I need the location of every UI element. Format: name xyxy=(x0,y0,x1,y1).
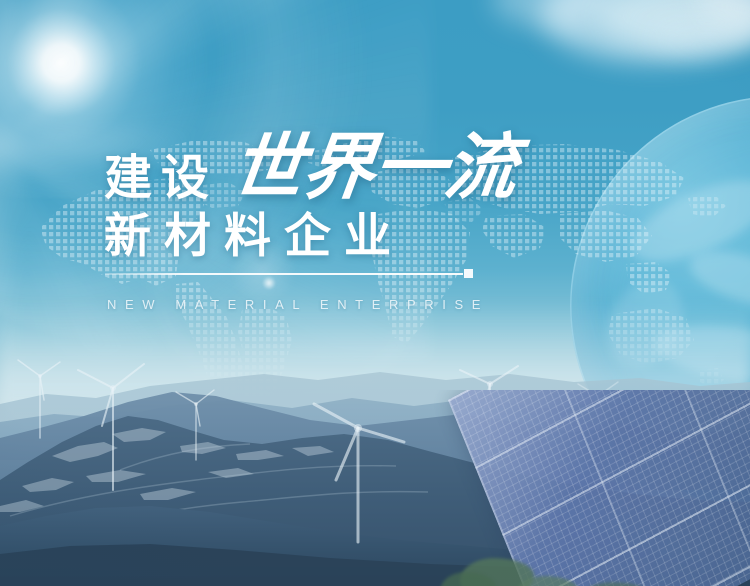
headline-line-1: 建设 世界一流 xyxy=(104,133,516,202)
hero-banner: 建设 世界一流 新材料企业 NEW MATERIAL ENTERPRISE xyxy=(0,0,750,586)
headline-prefix: 建设 xyxy=(104,154,218,202)
divider-end-marker xyxy=(464,269,473,278)
divider-rule xyxy=(105,273,463,275)
subtitle-english: NEW MATERIAL ENTERPRISE xyxy=(107,297,489,312)
headline-block: 建设 世界一流 新材料企业 NEW MATERIAL ENTERPRISE xyxy=(0,0,750,586)
headline-accent: 世界一流 xyxy=(228,133,521,202)
headline-line-2: 新材料企业 xyxy=(104,213,404,260)
